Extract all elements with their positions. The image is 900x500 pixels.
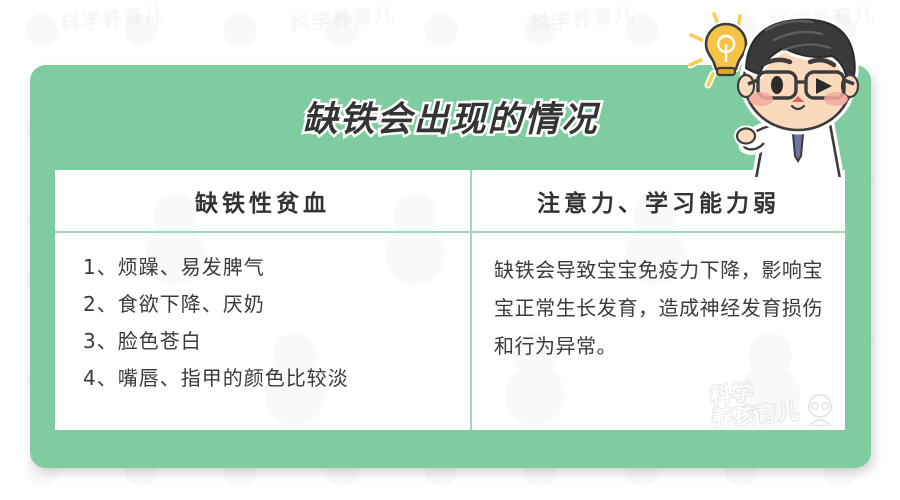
table-column-cognition: 注意力、学习能力弱 缺铁会导致宝宝免疫力下降，影响宝宝正常生长发育，造成神经发育… — [470, 170, 845, 430]
list-item: 1、烦躁、易发脾气 — [83, 249, 470, 286]
column-header-cognition: 注意力、学习能力弱 — [472, 170, 845, 233]
eye-open — [771, 76, 783, 94]
list-item: 3、脸色苍白 — [83, 323, 470, 360]
list-item: 2、食欲下降、厌奶 — [83, 286, 470, 323]
table-column-anemia: 缺铁性贫血 1、烦躁、易发脾气 2、食欲下降、厌奶 3、脸色苍白 4、嘴唇、指甲… — [55, 170, 470, 430]
watermark-tile: 科学养育儿 — [289, 5, 396, 37]
column-header-anemia: 缺铁性贫血 — [55, 170, 470, 233]
doctor-arm — [737, 126, 770, 149]
doctor-mascot — [688, 2, 898, 177]
watermark-tile: 科学养育儿 — [59, 5, 166, 37]
doctor-head — [738, 20, 858, 130]
comparison-table: 缺铁性贫血 1、烦躁、易发脾气 2、食欲下降、厌奶 3、脸色苍白 4、嘴唇、指甲… — [55, 170, 845, 430]
symptom-list: 1、烦躁、易发脾气 2、食欲下降、厌奶 3、脸色苍白 4、嘴唇、指甲的颜色比较淡 — [55, 233, 470, 397]
column-body-anemia: 1、烦躁、易发脾气 2、食欲下降、厌奶 3、脸色苍白 4、嘴唇、指甲的颜色比较淡 — [55, 233, 470, 430]
list-item: 4、嘴唇、指甲的颜色比较淡 — [83, 360, 470, 397]
lightbulb-icon — [690, 14, 746, 85]
watermark-tile: 科学养育儿 — [529, 5, 636, 37]
description-paragraph: 缺铁会导致宝宝免疫力下降，影响宝宝正常生长发育，造成神经发育损伤和行为异常。 — [472, 233, 845, 365]
column-body-cognition: 缺铁会导致宝宝免疫力下降，影响宝宝正常生长发育，造成神经发育损伤和行为异常。 — [472, 233, 845, 430]
